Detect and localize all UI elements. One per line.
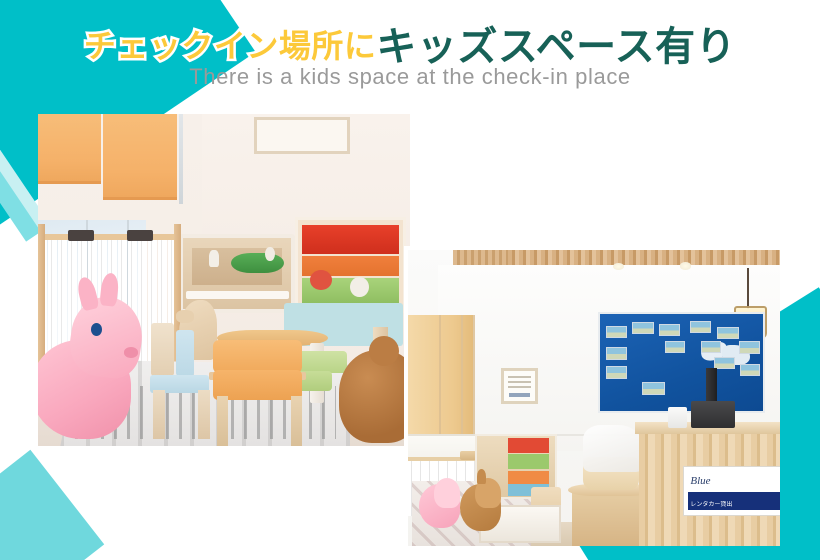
banner-header: チェックイン場所にキッズスペース有り There is a kids space… <box>0 0 820 104</box>
signboard-script-text: Blue <box>690 474 780 493</box>
bottom-left-teal-triangle <box>0 450 104 560</box>
gate-clamp <box>127 230 153 241</box>
framed-art-caption <box>509 393 530 397</box>
red-toy-ball <box>310 270 332 290</box>
white-gift-bag <box>583 425 643 472</box>
map-photo-thumb <box>690 321 711 333</box>
map-photo-thumb <box>659 324 680 337</box>
ceiling-downlight <box>680 262 692 269</box>
map-photo-thumb <box>606 366 627 379</box>
counter-cup <box>668 407 687 428</box>
cabinet-seam <box>439 315 441 451</box>
map-photo-thumb <box>632 322 653 335</box>
kids-chair-leg <box>198 390 210 440</box>
shelf-band-green <box>508 454 549 469</box>
white-toy-figure <box>209 250 219 267</box>
giraffe-nose <box>176 310 195 323</box>
kids-chair-back-blue <box>176 330 195 376</box>
blind-bracket <box>179 114 182 204</box>
wall-picture-frame <box>254 117 351 154</box>
green-toy-car <box>231 253 283 273</box>
brown-rocking-animal-ear <box>477 469 486 484</box>
banner-subtitle: There is a kids space at the check-in pl… <box>0 64 820 90</box>
counter-terminal <box>691 401 736 428</box>
kids-chair-back-wood <box>151 323 173 376</box>
brown-bear-toy <box>339 350 410 443</box>
window-blind-1 <box>38 114 101 184</box>
map-photo-thumb <box>717 327 738 340</box>
map-photo-thumb <box>642 382 665 396</box>
map-photo-thumb <box>739 341 760 354</box>
shelf-rail <box>186 291 289 299</box>
wooden-slat-ceiling-left <box>453 250 509 265</box>
shelf-band-red <box>302 225 399 254</box>
signboard-japanese-text: レンタカー貸出 <box>690 501 780 509</box>
banner-root: チェックイン場所にキッズスペース有り There is a kids space… <box>0 0 820 560</box>
map-photo-thumb <box>665 341 685 353</box>
wooden-cabinet <box>408 315 475 451</box>
hokkaido-map-board <box>598 312 765 413</box>
map-photo-thumb <box>701 341 721 353</box>
pendant-light-cord <box>747 268 749 309</box>
map-photo-thumb <box>740 364 760 376</box>
map-photo-thumb <box>714 357 735 370</box>
framed-art-content <box>508 376 532 391</box>
map-photo-thumb <box>606 347 627 360</box>
title-part-yellow: チェックイン場所に <box>84 28 377 64</box>
framed-wall-art <box>501 368 538 404</box>
cabinet-seam <box>461 315 463 451</box>
orange-armchair-back <box>213 340 302 373</box>
photo-checkin-reception: Blue レンタカー貸出 <box>408 250 780 546</box>
white-plush-toy <box>350 277 369 297</box>
pink-rocking-animal-head <box>434 478 460 508</box>
white-toy-ball <box>265 247 275 262</box>
toy-shelf-colorful <box>295 217 407 313</box>
orange-armchair-leg <box>291 396 302 446</box>
title-part-green: キッズスペース有り <box>376 25 736 69</box>
photo-kids-playroom <box>38 114 410 446</box>
counter-signboard: Blue レンタカー貸出 <box>683 466 780 516</box>
map-photo-thumb <box>606 326 627 339</box>
orange-armchair-leg <box>217 396 228 446</box>
gate-clamp <box>68 230 94 241</box>
bear-ear <box>369 336 399 366</box>
window-blind-2 <box>103 114 177 200</box>
shelf-band-red <box>508 438 549 453</box>
orange-armchair-seat <box>213 370 302 400</box>
shelf-band-orange <box>508 471 549 484</box>
kids-chair-leg <box>153 390 165 440</box>
